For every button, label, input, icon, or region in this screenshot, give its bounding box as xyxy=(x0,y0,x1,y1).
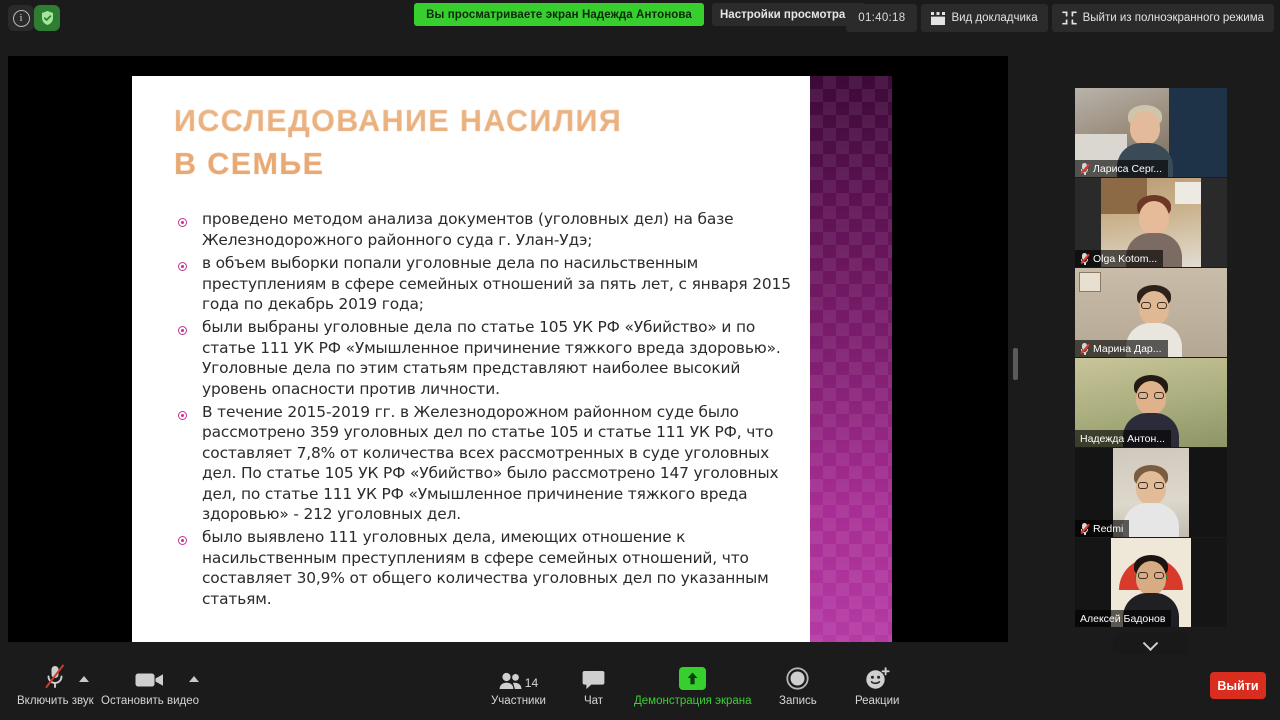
people-icon: 14 xyxy=(499,662,538,690)
top-bar: i Вы просматриваете экран Надежда Антоно… xyxy=(0,0,1280,36)
video-camera-icon xyxy=(135,662,165,690)
bullet-dot-icon xyxy=(178,262,187,271)
leave-meeting-button[interactable]: Выйти xyxy=(1210,672,1266,699)
chat-button[interactable]: Чат xyxy=(582,662,605,707)
view-settings-button[interactable]: Настройки просмотра xyxy=(712,3,866,26)
meeting-timer: 01:40:18 xyxy=(846,4,917,32)
list-item: было выявлено 111 уголовных дела, имеющи… xyxy=(174,527,798,609)
participant-tile[interactable]: Лариса Серг... xyxy=(1075,88,1227,177)
participant-name-bar: Olga Kotom... xyxy=(1075,250,1163,267)
sharing-banner-text: Вы просматриваете экран Надежда Антонова xyxy=(426,9,692,21)
bullet-dot-icon xyxy=(178,326,187,335)
microphone-muted-icon xyxy=(1080,523,1089,535)
participant-tile-active-speaker[interactable]: Алексей Бадонов xyxy=(1075,538,1227,627)
speaker-view-label: Вид докладчика xyxy=(951,12,1037,24)
chevron-down-icon xyxy=(1143,635,1159,651)
meeting-controls-bar: Включить звук Остановить видео xyxy=(0,654,1280,720)
unmute-audio-button[interactable]: Включить звук xyxy=(17,662,94,707)
video-options-caret-icon[interactable] xyxy=(189,676,199,682)
record-circle-icon xyxy=(786,662,809,690)
exit-fullscreen-icon xyxy=(1062,11,1077,25)
microphone-muted-icon xyxy=(1080,343,1089,355)
bullet-text: в объем выборки попали уголовные дела по… xyxy=(202,253,798,314)
audio-options-caret-icon[interactable] xyxy=(79,676,89,682)
participants-count: 14 xyxy=(525,676,538,690)
security-shield-icon[interactable] xyxy=(34,5,60,31)
slide-bullet-list: проведено методом анализа документов (уг… xyxy=(174,209,810,609)
glasses-icon xyxy=(1138,392,1164,399)
speaker-view-button[interactable]: Вид докладчика xyxy=(921,4,1047,32)
list-item: в объем выборки попали уголовные дела по… xyxy=(174,253,798,314)
share-screen-label: Демонстрация экрана xyxy=(634,695,752,707)
participant-name-bar: Марина Дар... xyxy=(1075,340,1168,357)
zoom-meeting-window: i Вы просматриваете экран Надежда Антоно… xyxy=(0,0,1280,720)
slide-title: ИССЛЕДОВАНИЕ НАСИЛИЯ В СЕМЬЕ xyxy=(174,100,810,185)
glasses-icon xyxy=(1138,482,1164,489)
record-label: Запись xyxy=(779,695,817,707)
info-icon[interactable]: i xyxy=(8,5,34,31)
bullet-text: было выявлено 111 уголовных дела, имеющи… xyxy=(202,527,798,609)
participant-filmstrip: Лариса Серг... Olga Kotom... xyxy=(1075,88,1227,628)
share-screen-button[interactable]: Демонстрация экрана xyxy=(634,662,752,707)
record-button[interactable]: Запись xyxy=(779,662,817,707)
bullet-text: В течение 2015-2019 гг. в Железнодорожно… xyxy=(202,402,798,524)
bullet-dot-icon xyxy=(178,536,187,545)
microphone-muted-icon xyxy=(1080,253,1089,265)
participant-tile[interactable]: Olga Kotom... xyxy=(1075,178,1227,267)
participant-name-bar: Надежда Антон... xyxy=(1075,430,1171,447)
list-item: проведено методом анализа документов (уг… xyxy=(174,209,798,250)
stop-video-button[interactable]: Остановить видео xyxy=(101,662,199,707)
unmute-audio-label: Включить звук xyxy=(17,695,94,707)
slide-accent-bar xyxy=(810,76,892,642)
stop-video-label: Остановить видео xyxy=(101,695,199,707)
participant-name-bar: Лариса Серг... xyxy=(1075,160,1168,177)
participant-name-bar: Redmi xyxy=(1075,520,1129,537)
leave-meeting-label: Выйти xyxy=(1217,679,1258,693)
participant-name: Надежда Антон... xyxy=(1080,433,1165,445)
participants-label: Участники xyxy=(491,695,546,707)
panel-resize-handle[interactable] xyxy=(1013,348,1018,380)
timer-value: 01:40:18 xyxy=(858,12,905,24)
participants-button[interactable]: 14 Участники xyxy=(491,662,546,707)
bullet-text: проведено методом анализа документов (уг… xyxy=(202,209,798,250)
microphone-muted-icon xyxy=(43,662,67,690)
exit-fullscreen-button[interactable]: Выйти из полноэкранного режима xyxy=(1052,4,1274,32)
participant-name: Лариса Серг... xyxy=(1093,163,1162,175)
list-item: были выбраны уголовные дела по статье 10… xyxy=(174,317,798,399)
slide-content: ИССЛЕДОВАНИЕ НАСИЛИЯ В СЕМЬЕ проведено м… xyxy=(132,76,810,642)
list-item: В течение 2015-2019 гг. в Железнодорожно… xyxy=(174,402,798,524)
presentation-slide: ИССЛЕДОВАНИЕ НАСИЛИЯ В СЕМЬЕ проведено м… xyxy=(132,76,892,642)
top-bar-right-group: 01:40:18 Вид докладчика Выйт xyxy=(846,4,1274,32)
chat-bubble-icon xyxy=(582,662,605,690)
bullet-text: были выбраны уголовные дела по статье 10… xyxy=(202,317,798,399)
microphone-muted-icon xyxy=(1080,163,1089,175)
screen-sharing-banner: Вы просматриваете экран Надежда Антонова xyxy=(414,3,704,26)
participant-name: Алексей Бадонов xyxy=(1080,613,1165,625)
participant-name: Марина Дар... xyxy=(1093,343,1162,355)
glasses-icon xyxy=(1138,572,1164,579)
shield-glyph xyxy=(40,10,55,26)
shared-screen-stage: ИССЛЕДОВАНИЕ НАСИЛИЯ В СЕМЬЕ проведено м… xyxy=(8,56,1008,642)
info-glyph: i xyxy=(13,10,30,27)
speaker-view-icon xyxy=(931,12,945,25)
view-settings-label: Настройки просмотра xyxy=(720,9,845,21)
reactions-label: Реакции xyxy=(855,695,899,707)
exit-fullscreen-label: Выйти из полноэкранного режима xyxy=(1083,12,1264,24)
bullet-dot-icon xyxy=(178,218,187,227)
participant-name-bar: Алексей Бадонов xyxy=(1075,610,1171,627)
participant-tile[interactable]: Redmi xyxy=(1075,448,1227,537)
participant-tile[interactable]: Марина Дар... xyxy=(1075,268,1227,357)
participant-name: Olga Kotom... xyxy=(1093,253,1157,265)
chat-label: Чат xyxy=(584,695,603,707)
participant-name: Redmi xyxy=(1093,523,1123,535)
share-screen-up-arrow-icon xyxy=(679,662,706,690)
bullet-dot-icon xyxy=(178,411,187,420)
glasses-icon xyxy=(1141,302,1167,309)
participant-tile[interactable]: Надежда Антон... xyxy=(1075,358,1227,447)
smiley-plus-icon xyxy=(865,662,890,690)
reactions-button[interactable]: Реакции xyxy=(855,662,899,707)
